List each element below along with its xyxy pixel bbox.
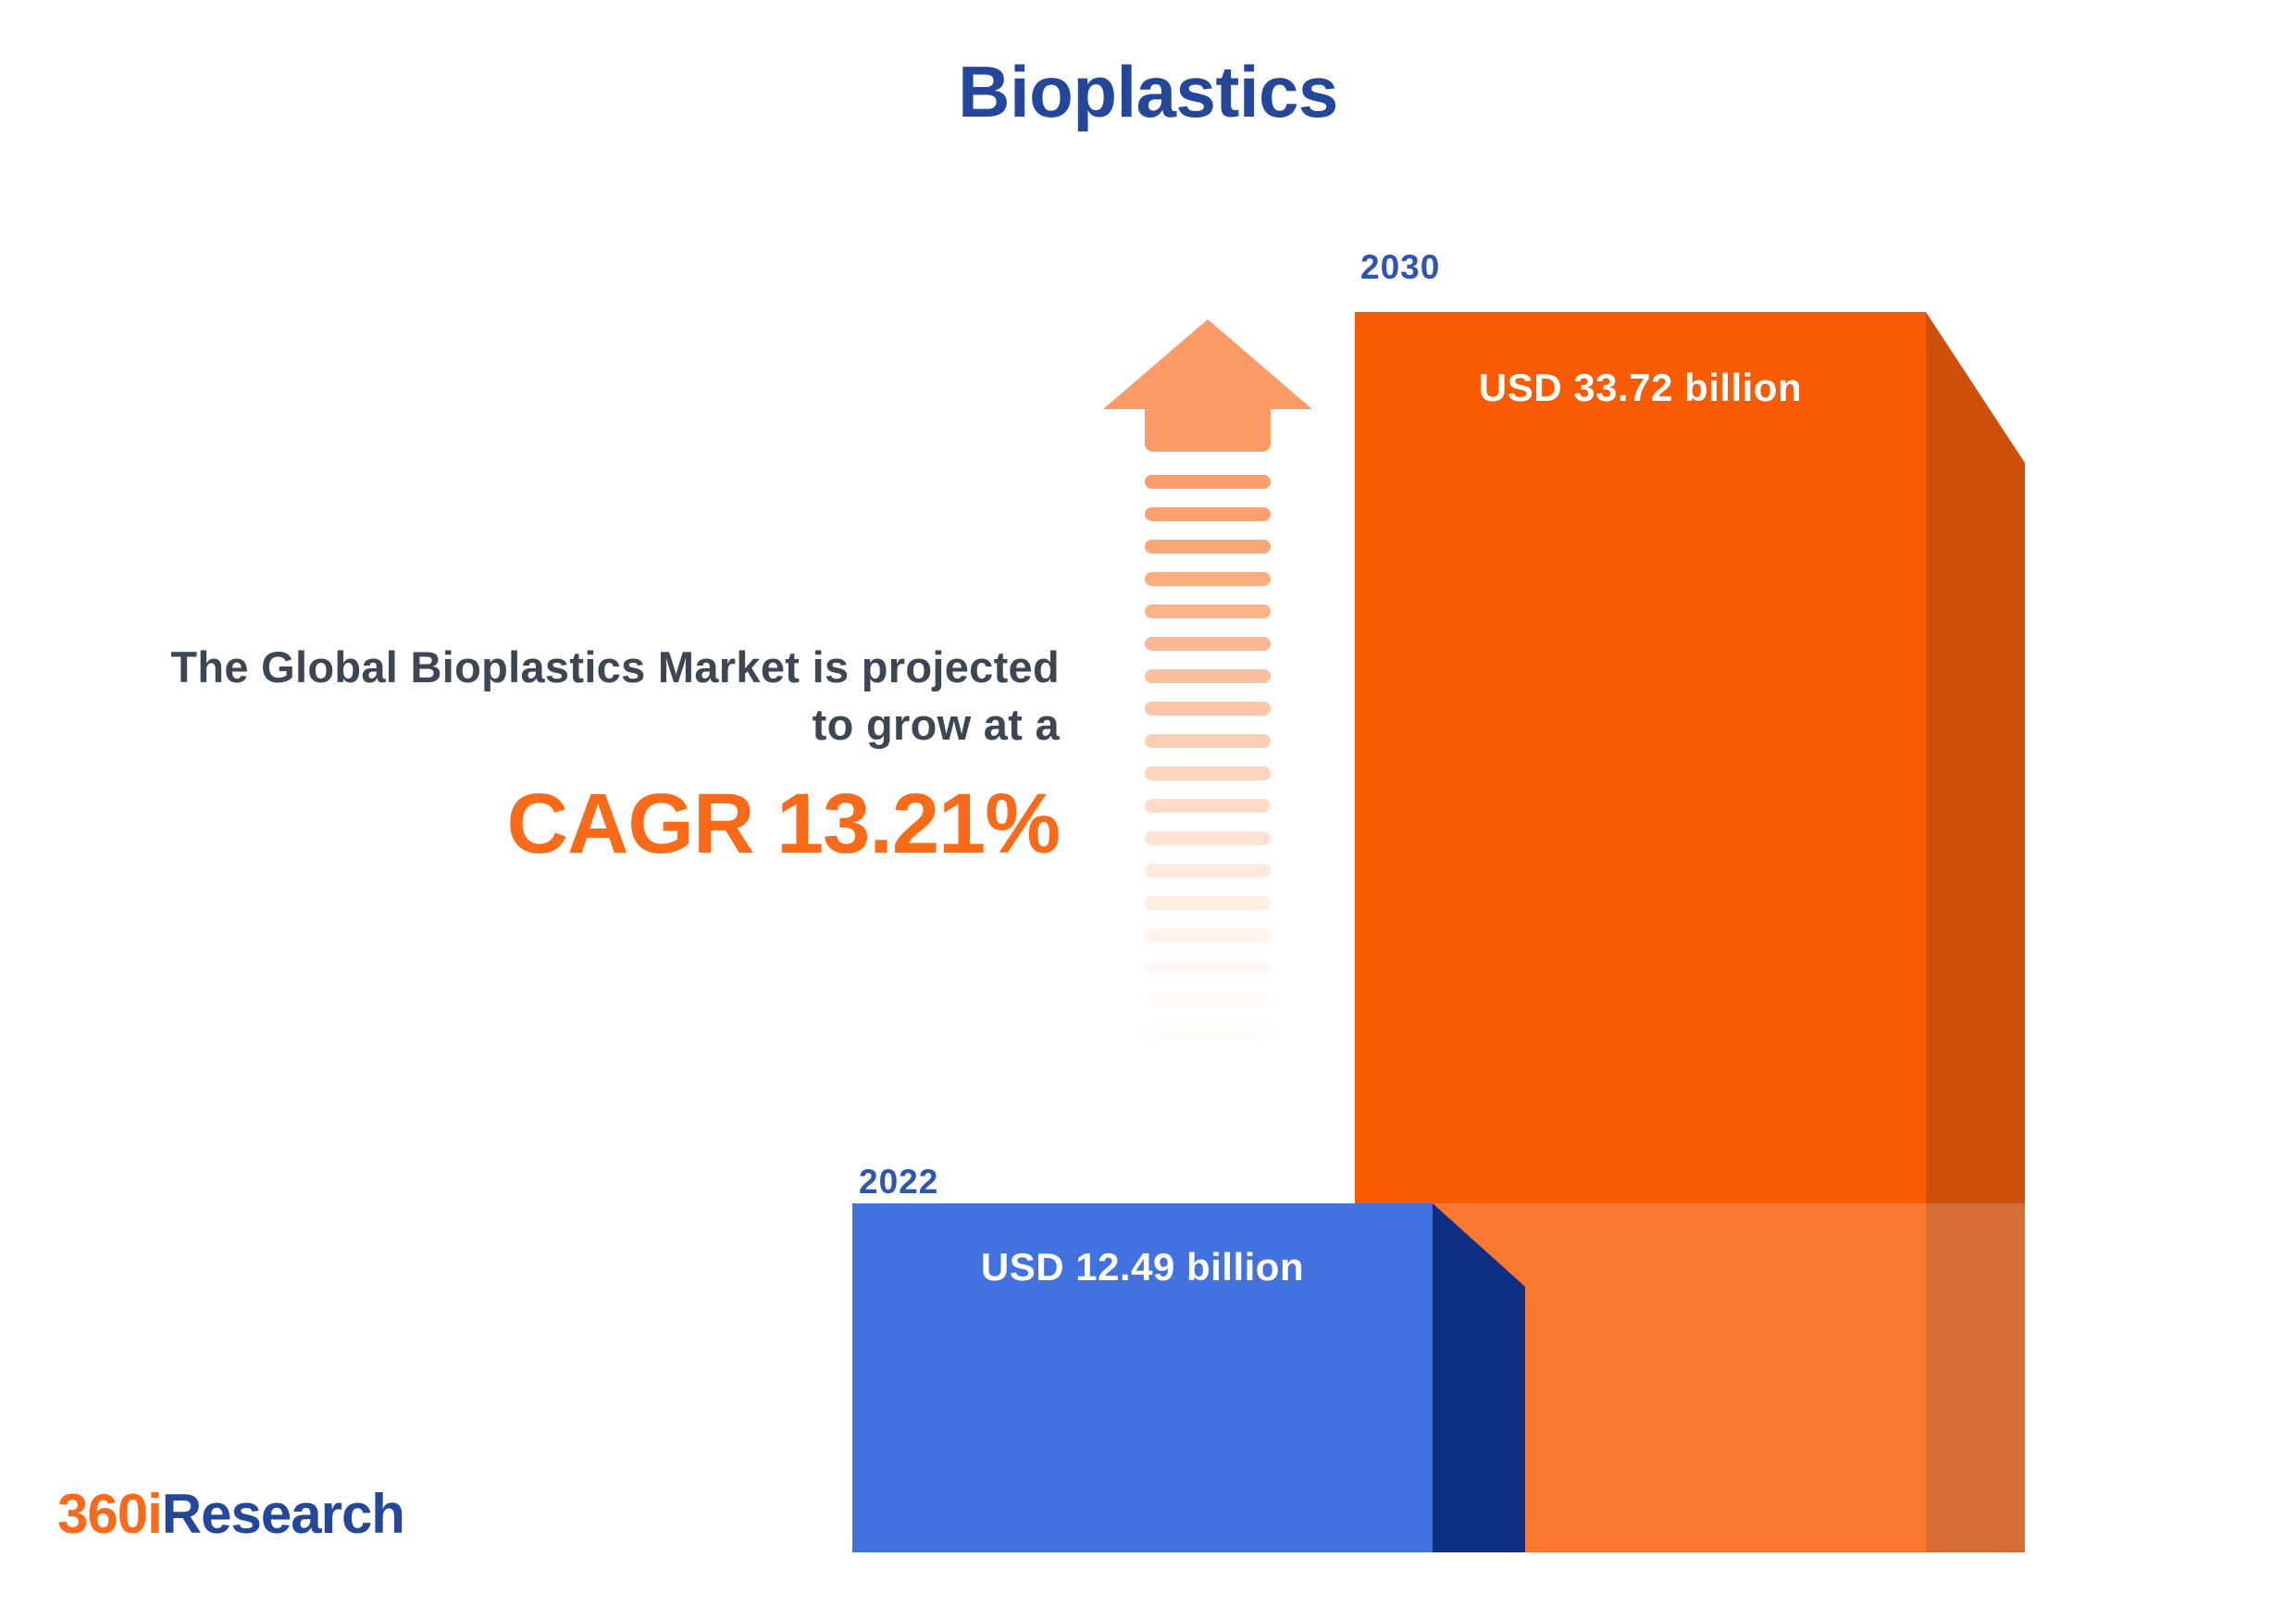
arrow-stripe	[1145, 507, 1271, 521]
arrow-stripe	[1145, 993, 1271, 1007]
narrative-line-1: The Global Bioplastics Market is project…	[9, 639, 1060, 696]
bar-2030-value-label: USD 33.72 billion	[1355, 366, 1926, 410]
arrow-head-shape	[1103, 319, 1312, 409]
arrow-stripe	[1145, 766, 1271, 780]
arrow-shaft-solid	[1145, 408, 1271, 452]
arrow-stripe	[1145, 1026, 1271, 1040]
infographic-canvas: Bioplastics The Global Bioplastics Marke…	[0, 0, 2296, 1619]
page-title: Bioplastics	[0, 56, 2296, 128]
arrow-stripe	[1145, 961, 1271, 975]
bar-2030-side-lower-highlight	[1926, 1203, 2025, 1552]
narrative-block: The Global Bioplastics Market is project…	[9, 639, 1060, 869]
bar-year-label-2030: 2030	[1360, 248, 1440, 287]
arrow-stripe	[1145, 831, 1271, 845]
arrow-stripe	[1145, 799, 1271, 813]
arrow-stripe	[1145, 669, 1271, 683]
bar-2022-value-label: USD 12.49 billion	[852, 1245, 1433, 1289]
up-arrow-icon	[1103, 319, 1312, 1069]
brand-logo[interactable]: 360iResearch	[57, 1487, 404, 1542]
arrow-stripe	[1145, 928, 1271, 942]
arrow-stripe	[1145, 702, 1271, 716]
narrative-line-2: to grow at a	[9, 696, 1060, 753]
arrow-stripe	[1145, 637, 1271, 651]
arrow-stripe	[1145, 734, 1271, 748]
arrow-stripe	[1145, 475, 1271, 489]
arrow-stripe	[1145, 604, 1271, 618]
arrow-stripe	[1145, 864, 1271, 878]
arrow-stripe	[1145, 572, 1271, 586]
logo-mark: 360i	[57, 1483, 162, 1545]
arrow-stripe	[1145, 896, 1271, 910]
cagr-value: CAGR 13.21%	[9, 779, 1060, 869]
logo-word: Research	[162, 1483, 404, 1545]
arrow-stripe	[1145, 540, 1271, 554]
bar-year-label-2022: 2022	[859, 1163, 938, 1202]
